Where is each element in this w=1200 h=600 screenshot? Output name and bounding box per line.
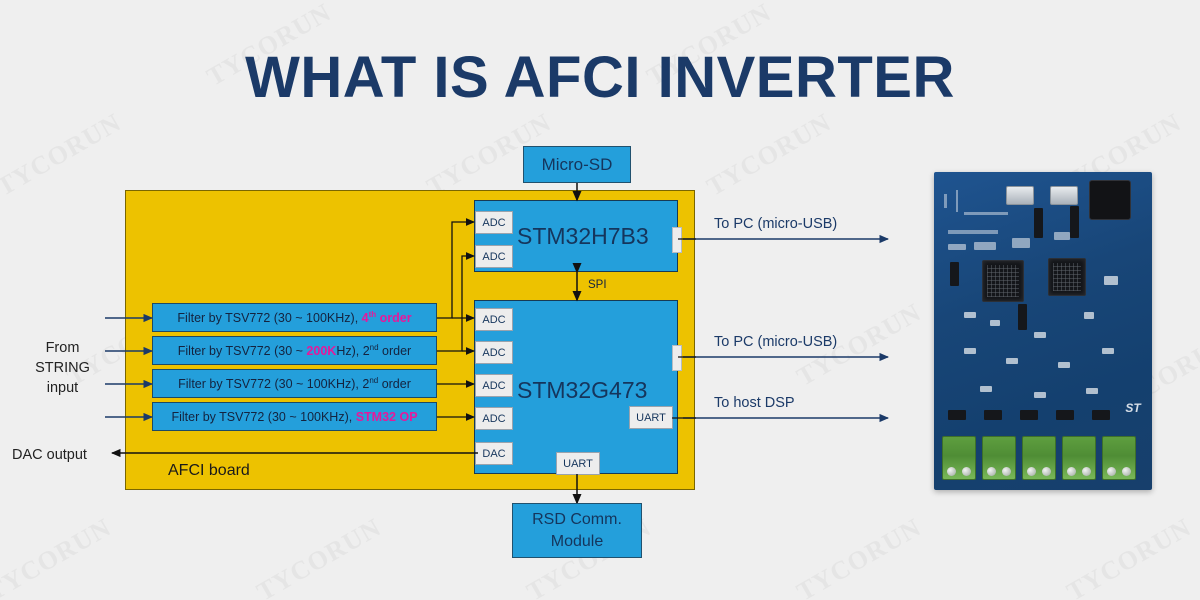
watermark: TYCORUN — [252, 512, 387, 600]
watermark: TYCORUN — [702, 107, 837, 202]
filter-block-2[interactable]: Filter by TSV772 (30 ~ 200KHz), 2nd orde… — [152, 336, 437, 365]
watermark: TYCORUN — [1062, 512, 1197, 600]
power-barrel-jack — [1089, 180, 1131, 220]
pcb-detail — [1054, 232, 1070, 240]
slide-canvas: TYCORUN TYCORUN TYCORUN TYCORUN TYCORUN … — [0, 0, 1200, 600]
usb-connector-1 — [1006, 186, 1034, 205]
watermark: TYCORUN — [0, 107, 127, 202]
g473-uart-port-right[interactable]: UART — [629, 406, 673, 429]
g473-adc-port-3[interactable]: ADC — [475, 374, 513, 397]
pcb-detail — [1012, 238, 1030, 248]
mcu-chip-2 — [1048, 258, 1086, 296]
screw-terminal-5 — [1102, 436, 1136, 480]
pcb-detail — [990, 320, 1000, 326]
filter-3-text: Filter by TSV772 (30 ~ 100KHz), 2nd orde… — [178, 376, 411, 391]
h7b3-adc-port-2[interactable]: ADC — [475, 245, 513, 268]
pcb-detail — [1084, 312, 1094, 319]
pcb-detail — [1058, 362, 1070, 368]
pcb-detail — [964, 348, 976, 354]
pcb-detail — [1102, 348, 1114, 354]
pcb-detail — [956, 190, 958, 212]
g473-usb-port[interactable] — [672, 345, 682, 371]
output-label-to-pc-1: To PC (micro-USB) — [714, 216, 837, 232]
pcb-detail — [964, 312, 976, 318]
g473-uart-port-bottom[interactable]: UART — [556, 452, 600, 475]
watermark: TYCORUN — [0, 512, 117, 600]
screw-terminal-3 — [1022, 436, 1056, 480]
filter-2-text: Filter by TSV772 (30 ~ 200KHz), 2nd orde… — [178, 343, 411, 358]
mcu-stm32g473-label: STM32G473 — [517, 377, 647, 404]
usb-connector-2 — [1050, 186, 1078, 205]
pcb-detail — [980, 386, 992, 392]
filter-block-3[interactable]: Filter by TSV772 (30 ~ 100KHz), 2nd orde… — [152, 369, 437, 398]
pcb-detail — [944, 194, 947, 208]
pin-header-1 — [1034, 208, 1043, 238]
string-input-line-2: STRING — [20, 358, 105, 378]
spi-bus-label: SPI — [588, 279, 607, 291]
pcb-photo: ST — [934, 172, 1152, 490]
rsd-comm-module-block[interactable]: RSD Comm. Module — [512, 503, 642, 558]
rsd-label-line-2: Module — [551, 531, 603, 553]
pin-header-2 — [1070, 206, 1079, 238]
h7b3-usb-port[interactable] — [672, 227, 682, 253]
filter-block-4[interactable]: Filter by TSV772 (30 ~ 100KHz), STM32 OP — [152, 402, 437, 431]
st-logo: ST — [1120, 400, 1146, 416]
pcb-detail — [1092, 410, 1110, 420]
filter-4-text: Filter by TSV772 (30 ~ 100KHz), STM32 OP — [171, 410, 417, 424]
screw-terminal-4 — [1062, 436, 1096, 480]
filter-block-1[interactable]: Filter by TSV772 (30 ~ 100KHz), 4th orde… — [152, 303, 437, 332]
pcb-detail — [1086, 388, 1098, 394]
pcb-detail — [964, 212, 1008, 215]
micro-sd-block[interactable]: Micro-SD — [523, 146, 631, 183]
pcb-detail — [1034, 332, 1046, 338]
string-input-line-3: input — [20, 378, 105, 398]
pcb-detail — [984, 410, 1002, 420]
dac-output-label: DAC output — [12, 445, 112, 465]
pcb-detail — [1020, 410, 1038, 420]
output-label-to-host-dsp: To host DSP — [714, 395, 795, 411]
mcu-chip-1 — [982, 260, 1024, 302]
g473-adc-port-1[interactable]: ADC — [475, 308, 513, 331]
pcb-detail — [1104, 276, 1118, 285]
pin-header-3 — [950, 262, 959, 286]
h7b3-adc-port-1[interactable]: ADC — [475, 211, 513, 234]
screw-terminal-2 — [982, 436, 1016, 480]
pcb-detail — [1056, 410, 1074, 420]
mcu-stm32g473[interactable]: STM32G473 ADC ADC ADC ADC DAC UART UART — [474, 300, 678, 474]
output-label-to-pc-2: To PC (micro-USB) — [714, 334, 837, 350]
watermark: TYCORUN — [792, 512, 927, 600]
string-input-line-1: From — [20, 338, 105, 358]
pcb-detail — [1006, 358, 1018, 364]
g473-dac-port[interactable]: DAC — [475, 442, 513, 465]
rsd-label-line-1: RSD Comm. — [532, 509, 622, 531]
string-input-label: From STRING input — [20, 338, 105, 398]
mcu-stm32h7b3[interactable]: STM32H7B3 ADC ADC — [474, 200, 678, 272]
filter-1-text: Filter by TSV772 (30 ~ 100KHz), 4th orde… — [177, 310, 411, 325]
pcb-detail — [974, 242, 996, 250]
pin-header-4 — [1018, 304, 1027, 330]
pcb-detail — [948, 410, 966, 420]
afci-board-label: AFCI board — [168, 462, 250, 480]
g473-adc-port-4[interactable]: ADC — [475, 407, 513, 430]
page-title: WHAT IS AFCI INVERTER — [0, 44, 1200, 111]
pcb-detail — [1034, 392, 1046, 398]
pcb-detail — [948, 244, 966, 250]
mcu-stm32h7b3-label: STM32H7B3 — [517, 223, 649, 250]
pcb-detail — [948, 230, 998, 234]
screw-terminal-1 — [942, 436, 976, 480]
g473-adc-port-2[interactable]: ADC — [475, 341, 513, 364]
